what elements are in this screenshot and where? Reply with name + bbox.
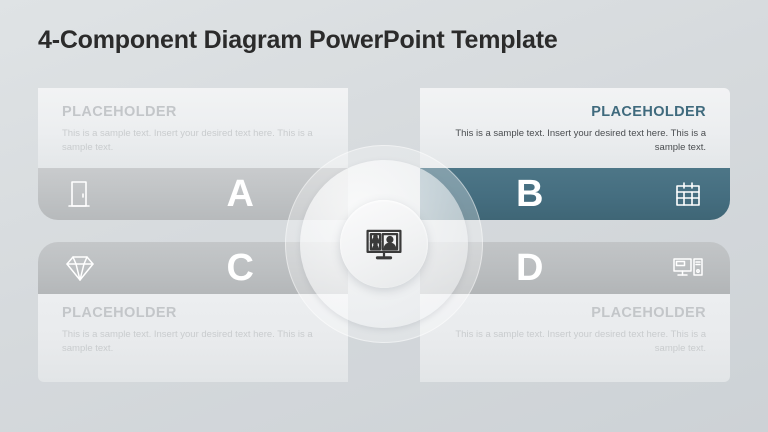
- component-d-body: This is a sample text. Insert your desir…: [444, 328, 706, 356]
- component-card-d[interactable]: D PLACEHOLDER This is a sam: [420, 242, 730, 382]
- component-b-heading: PLACEHOLDER: [444, 104, 706, 120]
- component-c-band[interactable]: C: [38, 242, 348, 294]
- component-card-b[interactable]: PLACEHOLDER This is a sample text. Inser…: [420, 88, 730, 220]
- component-a-heading: PLACEHOLDER: [62, 104, 324, 120]
- desktop-computer-icon: [672, 252, 704, 284]
- center-hub[interactable]: [340, 200, 428, 288]
- diagram-stage: PLACEHOLDER This is a sample text. Inser…: [0, 0, 768, 432]
- component-a-letter: A: [227, 175, 254, 213]
- component-c-body: This is a sample text. Insert your desir…: [62, 328, 324, 356]
- component-c-text: PLACEHOLDER This is a sample text. Inser…: [38, 305, 348, 356]
- component-b-letter: B: [516, 175, 543, 213]
- calendar-icon: [672, 178, 704, 210]
- component-d-text: PLACEHOLDER This is a sample text. Inser…: [420, 305, 730, 356]
- door-icon: [64, 178, 96, 210]
- component-a-text: PLACEHOLDER This is a sample text. Inser…: [38, 104, 348, 155]
- component-card-a[interactable]: PLACEHOLDER This is a sample text. Inser…: [38, 88, 348, 220]
- component-d-heading: PLACEHOLDER: [444, 305, 706, 321]
- component-card-c[interactable]: C PLACEHOLDER This is a sample text. Ins…: [38, 242, 348, 382]
- diamond-icon: [64, 252, 96, 284]
- component-c-letter: C: [227, 249, 254, 287]
- component-d-letter: D: [516, 249, 543, 287]
- component-d-band[interactable]: D: [420, 242, 730, 294]
- component-a-band[interactable]: A: [38, 168, 348, 220]
- video-conference-icon: [363, 223, 405, 265]
- component-b-band[interactable]: B: [420, 168, 730, 220]
- component-c-heading: PLACEHOLDER: [62, 305, 324, 321]
- component-b-body: This is a sample text. Insert your desir…: [444, 127, 706, 155]
- component-b-text: PLACEHOLDER This is a sample text. Inser…: [420, 104, 730, 155]
- component-a-body: This is a sample text. Insert your desir…: [62, 127, 324, 155]
